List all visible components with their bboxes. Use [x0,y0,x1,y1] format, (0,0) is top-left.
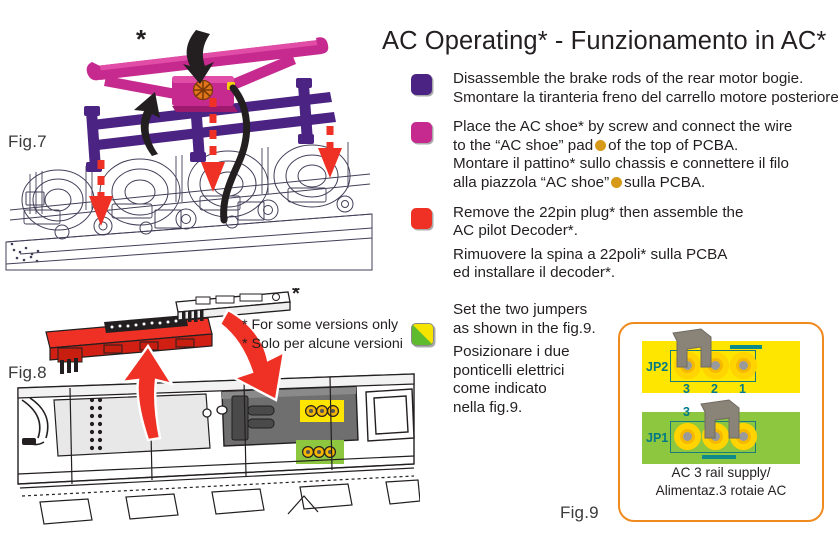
step-3-line-it-1: Rimuovere la spina a 22poli* sulla PCBA [453,246,838,265]
jp1-jumper-shunt [699,398,743,440]
versions-note-it: * Solo per alcune versioni [242,335,403,354]
figure-7-bogie-illustration: * Fig.7 [0,14,378,272]
step-2-line-it-1: Montare il pattino* sullo chassis e conn… [453,155,838,174]
step-4-marker-icon [411,323,434,346]
ac-shoe-pad-dot-icon [595,140,606,151]
versions-note-en: * For some versions only [242,316,403,335]
instruction-step-1: Disassemble the brake rods of the rear m… [411,70,838,107]
step-3-line-en-1: Remove the 22pin plug* then assemble the [453,204,838,223]
jp2-pin-1-hole [739,361,748,370]
jp2-pinnum-3: 3 [683,382,690,396]
step-4-line-en-2: as shown in the fig.9. [453,320,643,339]
fig9-caption: AC 3 rail supply/ Alimentaz.3 rotaie AC [620,464,822,500]
step-4-line-it-2: ponticelli elettrici [453,362,643,381]
step-2-line-it-2-before: alla piazzola “AC shoe” [453,174,609,191]
jp2-label: JP2 [646,360,668,374]
step-1-line-it: Smontare la tiranteria freno del carrell… [453,89,838,108]
jp1-pin-3-hole [683,432,692,441]
jp1-pin-3-pad [674,423,701,450]
step-2-line-en-2: to the “AC shoe” padof the top of PCBA. [453,137,838,156]
step-2-line-it-2-after: sulla PCBA. [624,174,705,191]
instruction-step-3: Remove the 22pin plug* then assemble the… [411,204,838,283]
step-3-line-it-2: ed installare il decoder*. [453,264,838,283]
step-3-line-en-2: AC pilot Decoder*. [453,222,838,241]
page-title: AC Operating* - Funzionamento in AC* [382,27,826,56]
step-3-marker-icon [411,208,432,229]
instruction-step-2: Place the AC shoe* by screw and connect … [411,118,838,192]
fig9-caption-en: AC 3 rail supply/ [620,464,822,482]
fig7-label: Fig.7 [8,132,47,152]
fig7-asterisk: * [136,24,147,54]
jp2-trace [730,345,762,349]
fig9-label: Fig.9 [560,503,599,523]
instruction-step-4: Set the two jumpers as shown in the fig.… [411,301,643,418]
step-2-line-it-2: alla piazzola “AC shoe”sulla PCBA. [453,174,838,193]
fig9-caption-it: Alimentaz.3 rotaie AC [620,482,822,500]
jp2-pinnum-2: 2 [711,382,718,396]
step-2-line-en-2-after: of the top of PCBA. [608,137,738,154]
jp1-pinnum-3: 3 [683,405,690,419]
figure-9-jumper-panel: JP2 3 2 1 JP1 3 AC 3 rail supply/ Alimen… [618,322,824,522]
step-2-marker-icon [411,122,432,143]
jp2-jumper-shunt [671,327,715,369]
versions-note: * For some versions only * Solo per alcu… [242,316,403,354]
jp2-pin-1-pad [730,352,757,379]
step-1-marker-icon [411,74,432,95]
fig8-label: Fig.8 [8,363,47,383]
step-4-line-it-1: Posizionare i due [453,343,643,362]
jp1-trace [702,455,736,459]
step-4-line-it-4: nella fig.9. [453,399,643,418]
jp2-pinnum-1: 1 [739,382,746,396]
step-2-line-en-1: Place the AC shoe* by screw and connect … [453,118,838,137]
step-2-line-en-2-before: to the “AC shoe” pad [453,137,593,154]
chassis-jp2-pad [300,400,344,422]
step-4-line-en-1: Set the two jumpers [453,301,643,320]
ac-shoe-pad-dot-icon [611,177,622,188]
step-1-line-en: Disassemble the brake rods of the rear m… [453,70,838,89]
jp1-label: JP1 [646,431,668,445]
step-4-line-it-3: come indicato [453,380,643,399]
svg-text:*: * [292,288,300,305]
